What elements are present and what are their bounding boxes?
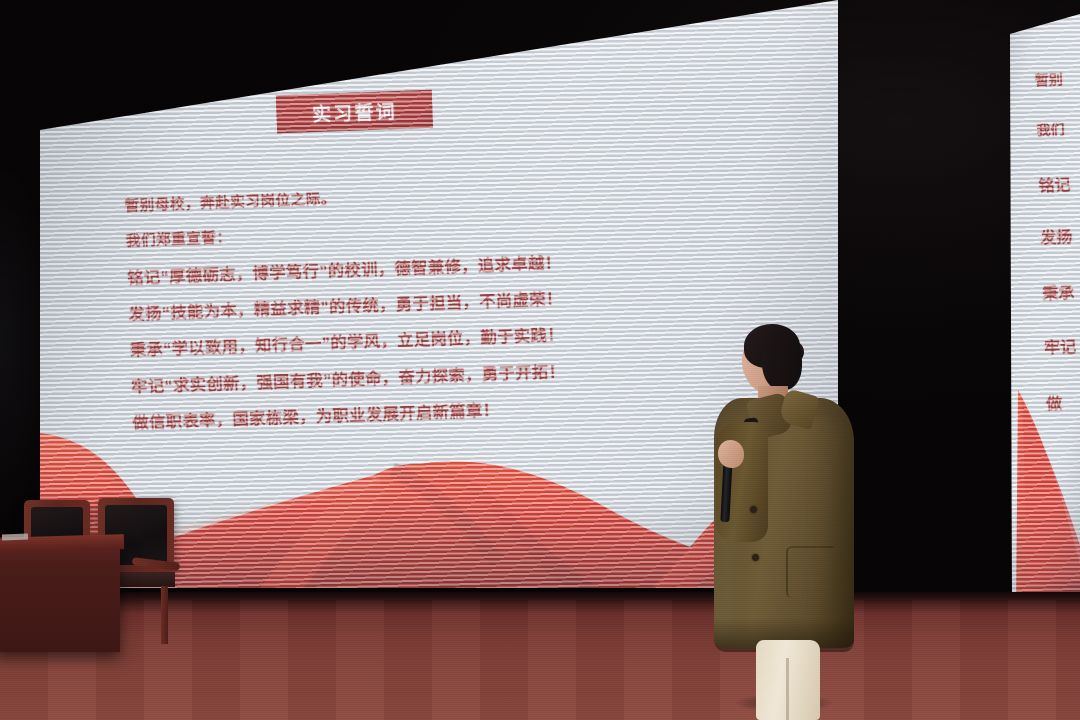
presenter <box>700 318 880 720</box>
side-line: 我们 <box>1036 119 1065 140</box>
side-line: 秉承 <box>1042 279 1075 304</box>
side-line: 牢记 <box>1044 333 1077 358</box>
slide-title: 实习誓词 <box>312 97 398 127</box>
side-table <box>0 542 120 652</box>
trouser-crease <box>786 658 789 720</box>
side-line: 暂别 <box>1034 69 1063 90</box>
side-line: 发扬 <box>1040 223 1073 248</box>
presenter-hand <box>718 440 744 468</box>
coat-button <box>752 554 759 561</box>
side-line: 做 <box>1046 390 1063 415</box>
coat-button <box>750 506 757 513</box>
stage-scene: 实习誓词 暂别母校，奔赴实习岗位之际。 我们郑重宣誓： 铭记“厚德砺志，博学笃行… <box>0 0 1080 720</box>
paper-on-table <box>2 534 28 541</box>
coat-pocket <box>786 546 834 598</box>
presenter-hair-side <box>762 332 802 390</box>
chair-leg <box>161 586 168 644</box>
slide-title-badge: 实习誓词 <box>276 90 433 134</box>
side-line: 铭记 <box>1038 171 1071 196</box>
